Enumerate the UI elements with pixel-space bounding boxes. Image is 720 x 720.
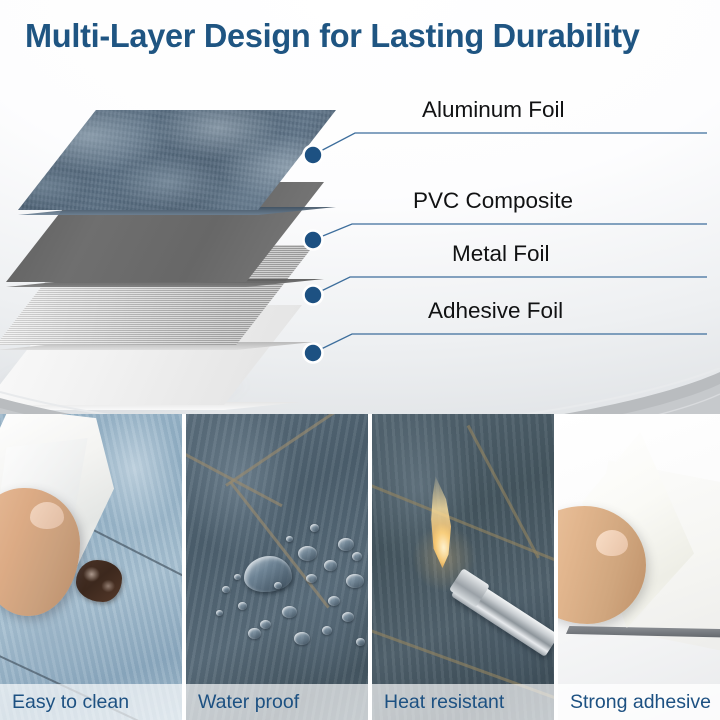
layer-diagram-section: Multi-Layer Design for Lasting Durabilit…: [0, 0, 720, 430]
feature-caption-bar: Easy to clean: [0, 684, 182, 720]
feature-caption-bar: Strong adhesive: [558, 684, 720, 720]
stain-spot: [76, 560, 122, 602]
feature-caption-label: Strong adhesive: [558, 691, 711, 714]
feature-panel-strong-adhesive[interactable]: Strong adhesive: [558, 414, 720, 720]
layer-label-adhesive-foil: Adhesive Foil: [428, 298, 563, 324]
layer-label-aluminum-foil: Aluminum Foil: [422, 97, 565, 123]
feature-caption-bar: Heat resistant: [372, 684, 554, 720]
feature-photo-water-proof: [186, 414, 368, 720]
feature-caption-label: Easy to clean: [0, 691, 129, 714]
page-title: Multi-Layer Design for Lasting Durabilit…: [25, 17, 705, 55]
feature-caption-bar: Water proof: [186, 684, 368, 720]
feature-panel-strip: Easy to clean: [0, 414, 720, 720]
infographic-canvas: Multi-Layer Design for Lasting Durabilit…: [0, 0, 720, 720]
feature-panel-heat-resistant[interactable]: Heat resistant: [372, 414, 554, 720]
slab-face: [18, 110, 336, 210]
water-droplet-large: [244, 556, 292, 592]
layer-label-metal-foil: Metal Foil: [452, 241, 550, 267]
feature-caption-label: Heat resistant: [372, 691, 504, 714]
layer-slab-aluminum-foil: [18, 110, 336, 210]
feature-caption-label: Water proof: [186, 691, 299, 714]
feature-panel-easy-to-clean[interactable]: Easy to clean: [0, 414, 182, 720]
layer-stack: [0, 90, 400, 390]
feature-photo-easy-to-clean: [0, 414, 182, 720]
layer-label-pvc-composite: PVC Composite: [413, 188, 573, 214]
feature-photo-heat-resistant: [372, 414, 554, 720]
feature-panel-water-proof[interactable]: Water proof: [186, 414, 368, 720]
feature-photo-strong-adhesive: [558, 414, 720, 720]
